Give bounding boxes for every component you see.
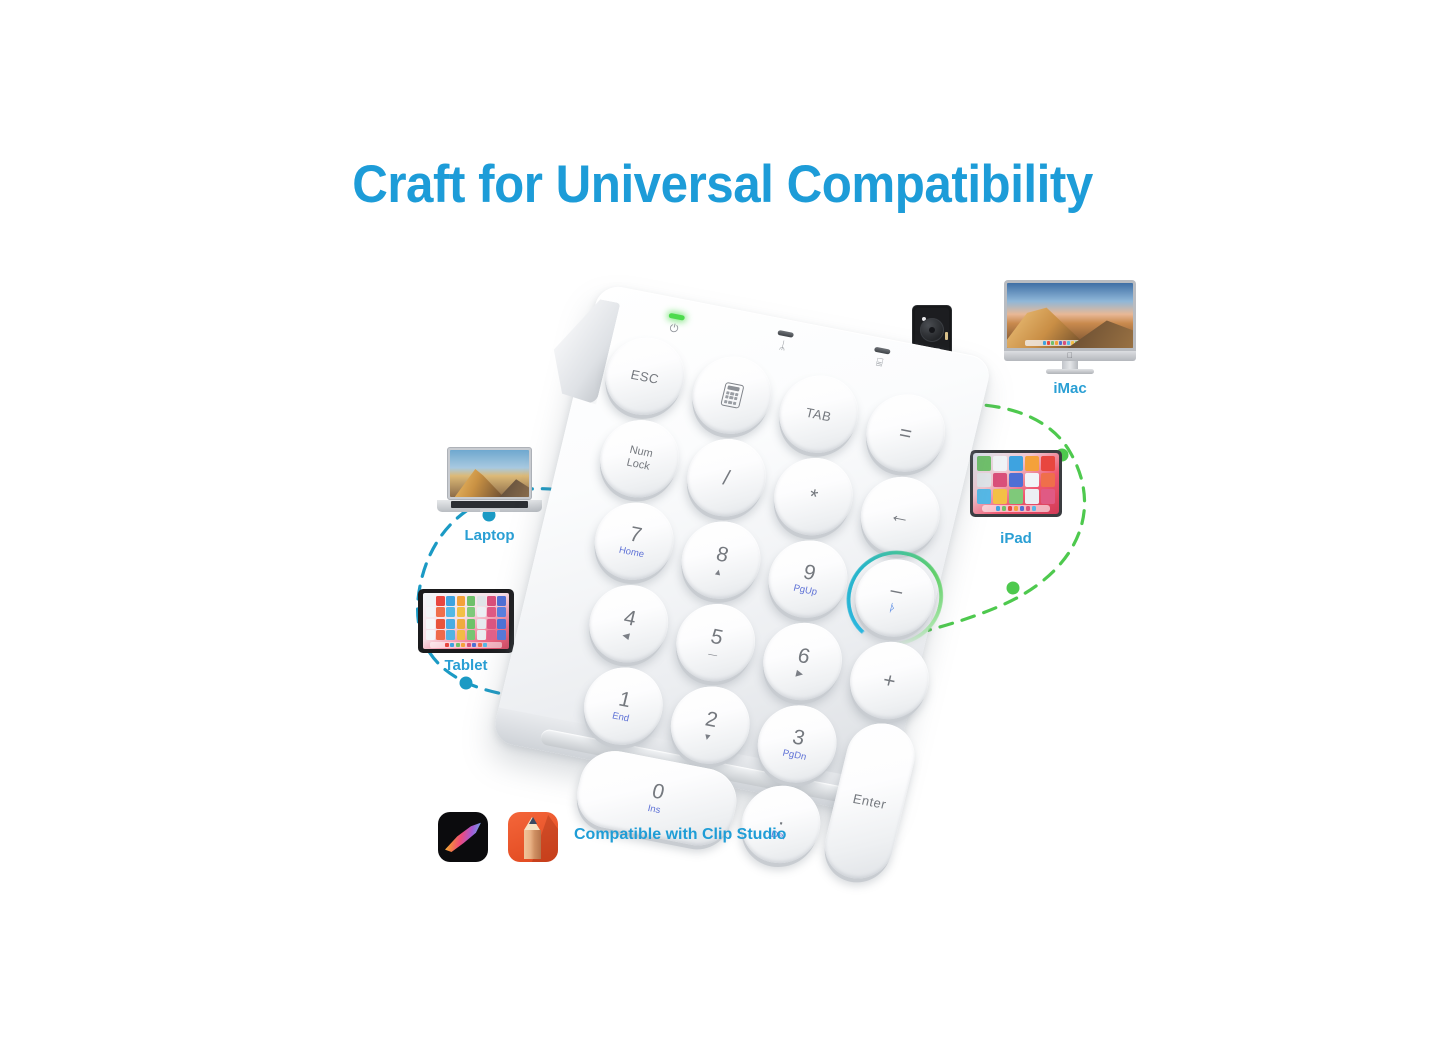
key-calculator[interactable]: [684, 350, 779, 441]
device-label-laptop: Laptop: [465, 527, 515, 544]
key-label: NumLock: [625, 444, 654, 473]
key-multiply[interactable]: *: [766, 451, 861, 542]
key-numlock[interactable]: NumLock: [592, 413, 687, 504]
key-label: 1: [617, 689, 633, 712]
key-label: 7: [627, 524, 643, 547]
key-label: 9: [801, 562, 817, 585]
battery-icon: ⌸: [870, 356, 888, 370]
power-icon: ⏻: [665, 323, 683, 337]
key-7[interactable]: 7 Home: [587, 496, 682, 587]
page-title: Craft for Universal Compatibility: [51, 157, 1395, 213]
compatible-apps: Compatible with Clip Studio: [438, 812, 878, 864]
key-sublabel: PgDn: [782, 749, 808, 763]
device-label-imac: iMac: [1053, 380, 1086, 397]
arrow-up-icon: ▲: [713, 567, 724, 577]
key-label: Enter: [852, 791, 888, 810]
key-label: =: [897, 422, 914, 445]
marketing-banner: Craft for Universal Compatibility Laptop: [0, 0, 1445, 1057]
arrow-left-icon: ◀: [621, 630, 630, 640]
device-tablet: Tablet: [418, 589, 514, 659]
key-sublabel: PgUp: [792, 584, 818, 598]
tablet-icon: [418, 589, 514, 653]
key-6[interactable]: 6 ▶: [755, 616, 850, 707]
procreate-icon: [438, 812, 488, 862]
key-marker: —: [707, 649, 718, 659]
sketchbook-icon: [508, 812, 558, 862]
key-label: *: [807, 486, 820, 508]
key-esc[interactable]: ESC: [598, 331, 693, 422]
key-label: /: [721, 467, 732, 489]
compatible-apps-label: Compatible with Clip Studio: [574, 826, 786, 844]
key-label: ESC: [630, 367, 661, 385]
key-label: 3: [790, 727, 806, 750]
battery-indicator: ⌸: [870, 347, 891, 370]
key-label: 4: [622, 607, 638, 630]
key-label: 0: [650, 781, 666, 804]
key-label: 8: [714, 543, 730, 566]
key-5[interactable]: 5 —: [668, 597, 763, 688]
key-9[interactable]: 9 PgUp: [761, 534, 856, 625]
key-tab[interactable]: TAB: [771, 369, 866, 460]
key-label: TAB: [805, 405, 833, 423]
key-sublabel: Home: [618, 546, 645, 560]
key-label: 2: [703, 708, 719, 731]
key-label: +: [881, 669, 898, 692]
key-label: 6: [796, 644, 812, 667]
apple-logo-icon: : [1067, 352, 1073, 360]
bluetooth-indicator: ᛦ: [773, 330, 794, 353]
key-sublabel: End: [611, 712, 630, 724]
device-label-tablet: Tablet: [444, 657, 487, 674]
bluetooth-icon: ᛦ: [773, 340, 791, 354]
key-minus-bluetooth[interactable]: – ᚦ: [847, 553, 942, 644]
key-divide[interactable]: /: [679, 432, 774, 523]
curve-node-teal-2: [460, 677, 473, 690]
numeric-keypad-product: ⏻ ᛦ ⌸ ESC: [512, 305, 1042, 815]
arrow-right-icon: ▶: [795, 668, 804, 678]
key-8[interactable]: 8 ▲: [674, 515, 769, 606]
key-label: 5: [709, 625, 725, 648]
power-indicator: ⏻: [665, 313, 686, 336]
key-label: ←: [888, 503, 914, 527]
key-4[interactable]: 4 ◀: [581, 578, 676, 669]
calculator-icon: [720, 382, 744, 409]
key-equals[interactable]: =: [858, 388, 953, 479]
arrow-down-icon: ▼: [702, 732, 713, 742]
